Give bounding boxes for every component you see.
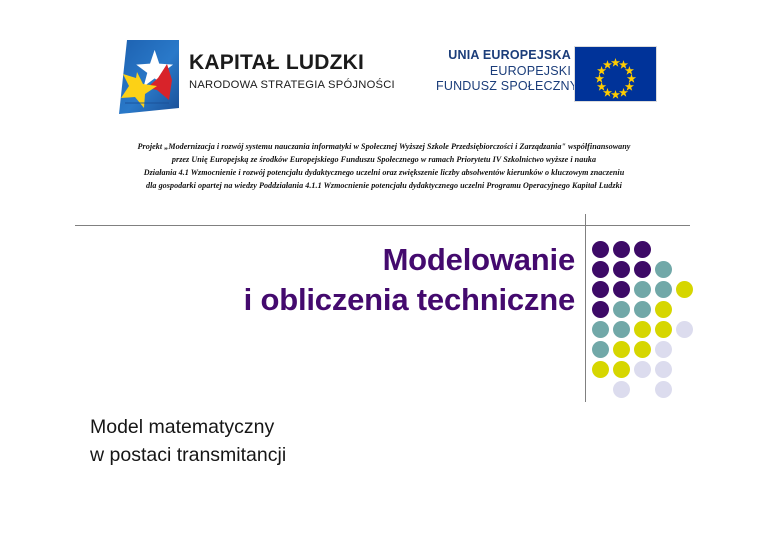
european-union-flag-icon bbox=[574, 46, 657, 102]
dot-teal bbox=[592, 341, 609, 358]
dot-lavender bbox=[613, 381, 630, 398]
dot-none bbox=[676, 301, 693, 318]
page-title-line-1: Modelowanie bbox=[140, 240, 575, 280]
dot-none bbox=[592, 381, 609, 398]
dot-none bbox=[676, 241, 693, 258]
kapital-ludzki-stars-emblem bbox=[117, 38, 181, 116]
dot-none bbox=[676, 341, 693, 358]
project-funding-note: Projekt „Modernizacja i rozwój systemu n… bbox=[0, 140, 768, 192]
kapital-ludzki-wordmark: KAPITAŁ LUDZKI NARODOWA STRATEGIA SPÓJNO… bbox=[189, 52, 389, 91]
unia-europejska-line1: UNIA EUROPEJSKA bbox=[436, 48, 571, 64]
dot-teal bbox=[592, 321, 609, 338]
unia-europejska-wordmark: UNIA EUROPEJSKA EUROPEJSKI FUNDUSZ SPOŁE… bbox=[436, 48, 571, 95]
project-note-line-4: dla gospodarki opartej na wiedzy Poddzia… bbox=[0, 179, 768, 192]
dot-none bbox=[676, 381, 693, 398]
kapital-ludzki-logo: KAPITAŁ LUDZKI NARODOWA STRATEGIA SPÓJNO… bbox=[117, 38, 377, 116]
dot-purple bbox=[634, 261, 651, 278]
page-subtitle: Model matematyczny w postaci transmitanc… bbox=[90, 414, 510, 469]
dot-grid-row bbox=[592, 261, 702, 281]
dot-teal bbox=[655, 261, 672, 278]
project-note-line-3: Działania 4.1 Wzmocnienie i rozwój poten… bbox=[0, 166, 768, 179]
dot-yellow bbox=[655, 301, 672, 318]
dot-none bbox=[676, 261, 693, 278]
page-subtitle-line-1: Model matematyczny bbox=[90, 414, 510, 442]
dot-yellow bbox=[613, 341, 630, 358]
dot-grid-row bbox=[592, 341, 702, 361]
dot-purple bbox=[592, 301, 609, 318]
vertical-divider bbox=[585, 214, 586, 402]
dot-teal bbox=[613, 321, 630, 338]
dot-none bbox=[676, 361, 693, 378]
dot-lavender bbox=[655, 361, 672, 378]
dot-lavender bbox=[634, 361, 651, 378]
dot-none bbox=[655, 241, 672, 258]
dot-grid-row bbox=[592, 321, 702, 341]
page-subtitle-line-2: w postaci transmitancji bbox=[90, 442, 510, 470]
dot-lavender bbox=[655, 341, 672, 358]
unia-europejska-line2: EUROPEJSKI bbox=[436, 64, 571, 80]
project-note-line-1: Projekt „Modernizacja i rozwój systemu n… bbox=[0, 140, 768, 153]
dot-grid-row bbox=[592, 381, 702, 401]
kapital-ludzki-title: KAPITAŁ LUDZKI bbox=[189, 52, 389, 74]
dot-purple bbox=[613, 261, 630, 278]
project-note-line-2: przez Unię Europejską ze środków Europej… bbox=[0, 153, 768, 166]
dot-yellow bbox=[676, 281, 693, 298]
page-title-line-2: i obliczenia techniczne bbox=[140, 280, 575, 320]
dot-none bbox=[634, 381, 651, 398]
dot-purple bbox=[634, 241, 651, 258]
dot-yellow bbox=[592, 361, 609, 378]
dot-teal bbox=[613, 301, 630, 318]
dot-yellow bbox=[655, 321, 672, 338]
dot-grid-row bbox=[592, 301, 702, 321]
kapital-ludzki-subtitle: NARODOWA STRATEGIA SPÓJNOŚCI bbox=[189, 79, 389, 91]
dot-purple bbox=[592, 261, 609, 278]
dot-lavender bbox=[676, 321, 693, 338]
dot-teal bbox=[634, 281, 651, 298]
header-logo-bar: KAPITAŁ LUDZKI NARODOWA STRATEGIA SPÓJNO… bbox=[0, 0, 768, 130]
dot-lavender bbox=[655, 381, 672, 398]
dot-teal bbox=[655, 281, 672, 298]
dot-grid-row bbox=[592, 281, 702, 301]
dot-purple bbox=[613, 281, 630, 298]
dot-yellow bbox=[634, 341, 651, 358]
dot-yellow bbox=[634, 321, 651, 338]
horizontal-divider bbox=[75, 225, 690, 226]
unia-europejska-logo: UNIA EUROPEJSKA EUROPEJSKI FUNDUSZ SPOŁE… bbox=[452, 46, 657, 106]
dot-grid-row bbox=[592, 241, 702, 261]
page-title: Modelowanie i obliczenia techniczne bbox=[140, 240, 575, 319]
unia-europejska-line3: FUNDUSZ SPOŁECZNY bbox=[436, 79, 571, 95]
dot-purple bbox=[592, 281, 609, 298]
dot-teal bbox=[634, 301, 651, 318]
decorative-dot-grid bbox=[592, 241, 702, 401]
dot-purple bbox=[613, 241, 630, 258]
dot-yellow bbox=[613, 361, 630, 378]
dot-purple bbox=[592, 241, 609, 258]
dot-grid-row bbox=[592, 361, 702, 381]
